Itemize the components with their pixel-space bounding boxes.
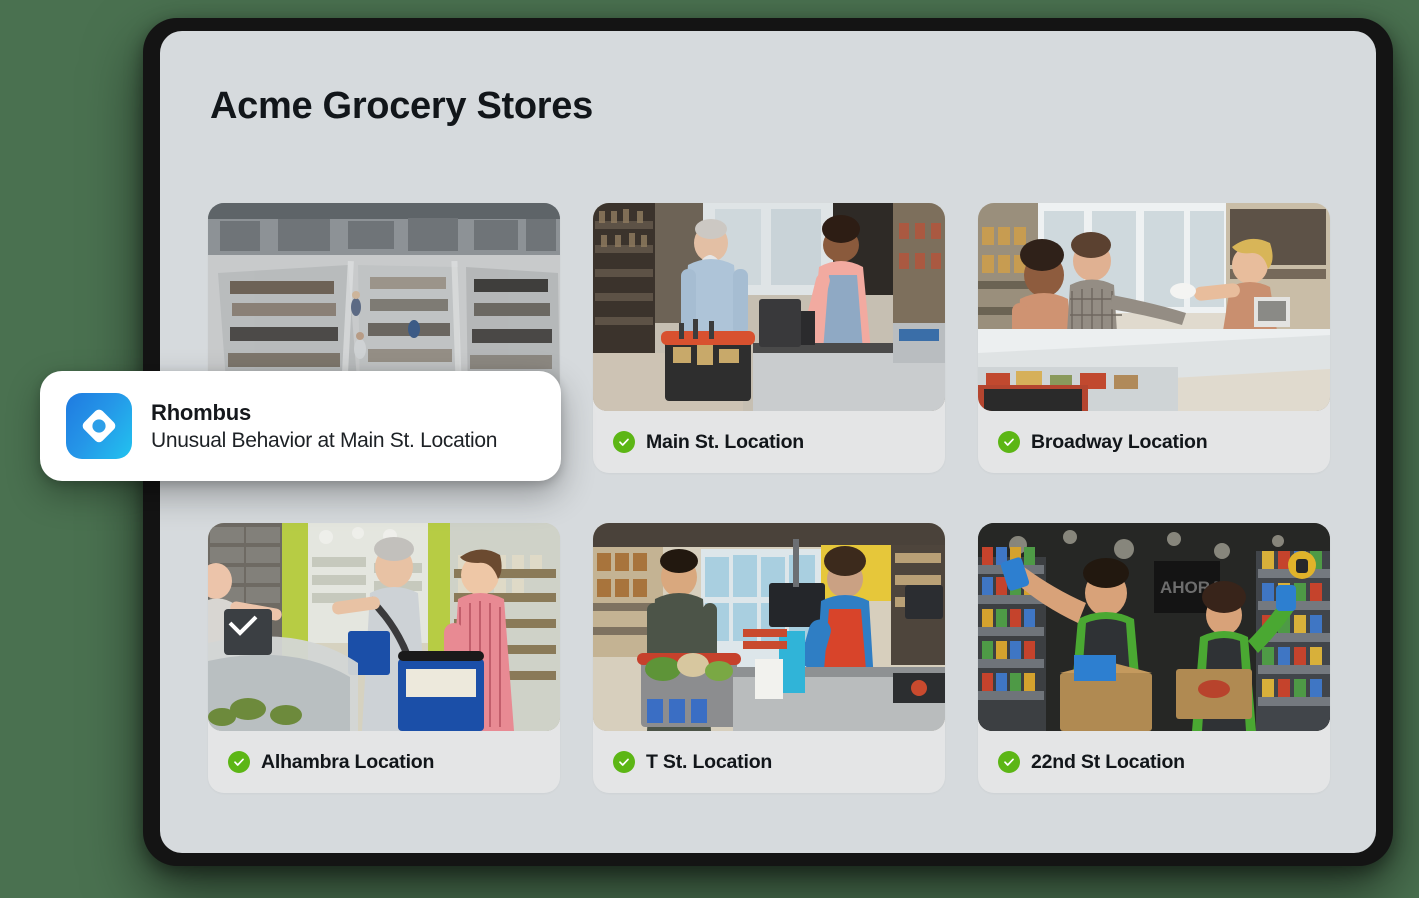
store-card-label: Main St. Location — [646, 431, 804, 454]
store-thumbnail[interactable] — [593, 523, 945, 731]
store-card[interactable]: Main St. Location — [593, 203, 945, 473]
check-circle-icon — [228, 751, 250, 773]
notification-message: Unusual Behavior at Main St. Location — [151, 429, 497, 453]
rhombus-diamond-icon — [66, 393, 132, 459]
scene-deli-counter-couple — [978, 203, 1330, 411]
store-thumbnail[interactable] — [208, 523, 560, 731]
store-card-label: Broadway Location — [1031, 431, 1207, 454]
store-card-footer: Alhambra Location — [208, 731, 560, 793]
store-card-footer: T St. Location — [593, 731, 945, 793]
notification-text-block: Rhombus Unusual Behavior at Main St. Loc… — [151, 400, 497, 453]
store-card-footer: Broadway Location — [978, 411, 1330, 473]
store-card[interactable]: Alhambra Location — [208, 523, 560, 793]
store-thumbnail[interactable]: AHORA — [978, 523, 1330, 731]
store-card-footer: Main St. Location — [593, 411, 945, 473]
check-circle-icon — [613, 751, 635, 773]
scene-deli-counter-seniors — [208, 523, 560, 731]
notification-toast[interactable]: Rhombus Unusual Behavior at Main St. Loc… — [40, 371, 561, 481]
page-title: Acme Grocery Stores — [210, 85, 593, 128]
store-card-label: Alhambra Location — [261, 751, 434, 774]
store-card-grid: Main St. Location — [208, 203, 1330, 793]
check-circle-icon — [998, 431, 1020, 453]
store-card[interactable]: Broadway Location — [978, 203, 1330, 473]
scene-checkout-red-apron — [593, 523, 945, 731]
store-card-footer: 22nd St Location — [978, 731, 1330, 793]
store-card-label: 22nd St Location — [1031, 751, 1185, 774]
store-card-label: T St. Location — [646, 751, 772, 774]
store-thumbnail[interactable] — [978, 203, 1330, 411]
scene-checkout-cashier — [593, 203, 945, 411]
check-circle-icon — [998, 751, 1020, 773]
store-thumbnail[interactable] — [593, 203, 945, 411]
check-circle-icon — [613, 431, 635, 453]
store-card[interactable]: AHORA — [978, 523, 1330, 793]
notification-app-name: Rhombus — [151, 400, 497, 426]
store-card[interactable]: T St. Location — [593, 523, 945, 793]
scene-employees-stocking: AHORA — [978, 523, 1330, 731]
